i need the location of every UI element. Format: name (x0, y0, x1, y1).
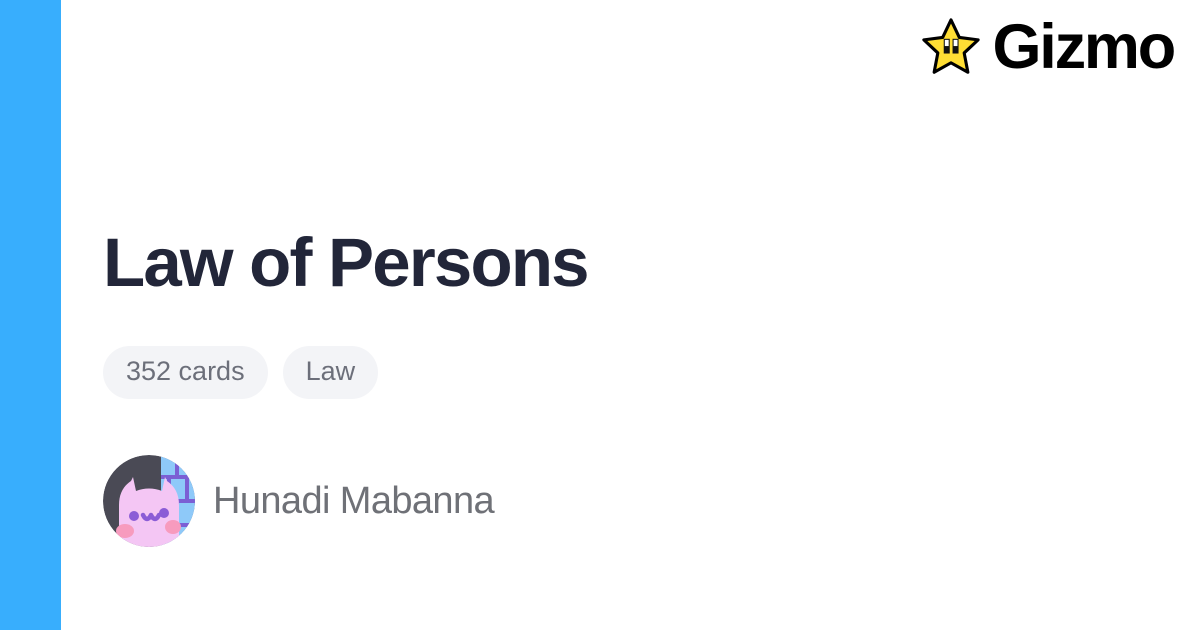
author-row: Hunadi Mabanna (103, 455, 1103, 547)
brand-wordmark: Gizmo (992, 16, 1174, 79)
page-title: Law of Persons (103, 226, 1103, 301)
share-card: Gizmo Law of Persons 352 cards Law (0, 0, 1200, 630)
brand-logo[interactable]: Gizmo (920, 16, 1174, 79)
left-accent-stripe (0, 0, 61, 630)
cat-avatar-icon (103, 455, 195, 547)
author-name: Hunadi Mabanna (213, 482, 494, 520)
star-icon (920, 17, 982, 79)
deck-info: Law of Persons 352 cards Law (103, 226, 1103, 547)
badge-row: 352 cards Law (103, 346, 1103, 399)
subject-badge: Law (283, 346, 379, 399)
card-count-badge: 352 cards (103, 346, 268, 399)
